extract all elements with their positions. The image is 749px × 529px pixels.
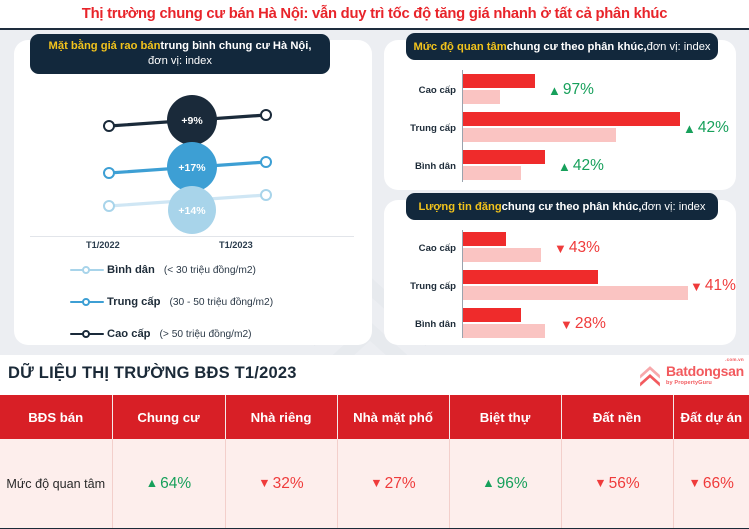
listing-bar-chart: Cao cấp ▼43% Trung cấp ▼41% Bình dân xyxy=(384,228,736,342)
listing-header-rest: chung cư theo phân khúc, xyxy=(502,201,642,213)
line-chart-axis-labels: T1/2022 T1/2023 xyxy=(14,240,372,256)
arrow-up-icon: ▲ xyxy=(683,122,696,135)
demand-bar-previous-premium xyxy=(463,90,500,104)
axis-label-start: T1/2022 xyxy=(86,240,120,250)
demand-annotation-mid: ▲42% xyxy=(683,119,729,137)
cell-value-apartment: ▲64% xyxy=(146,475,191,493)
demand-bar-current-premium xyxy=(463,74,535,88)
arrow-down-icon: ▼ xyxy=(554,242,567,255)
listing-category-budget: Bình dân xyxy=(384,319,456,330)
cell-text-land: 56% xyxy=(609,475,640,493)
demand-annotation-budget-value: 42% xyxy=(573,157,604,175)
line-budget-start-point xyxy=(104,201,114,211)
legend-item-budget: Bình dân (< 30 triệu đồng/m2) xyxy=(70,262,256,278)
line-mid-start-point xyxy=(104,168,114,178)
listing-group-mid: Trung cấp ▼41% xyxy=(384,270,736,302)
price-index-line-chart: +9% +17% +14% xyxy=(14,80,372,240)
cell-text-private-house: 32% xyxy=(273,475,304,493)
line-premium-end-point xyxy=(261,110,271,120)
table-header-villa: Biệt thự xyxy=(449,395,561,439)
page-title: Thị trường chung cư bán Hà Nội: vẫn duy … xyxy=(82,6,667,22)
cell-text-street-house: 27% xyxy=(385,475,416,493)
table-header-project-land: Đất dự án xyxy=(673,395,749,439)
listing-annotation-premium: ▼43% xyxy=(554,239,600,257)
cell-text-villa: 96% xyxy=(497,475,528,493)
table-header-land: Đất nền xyxy=(561,395,673,439)
legend-label-mid: Trung cấp xyxy=(107,296,160,308)
demand-group-mid: Trung cấp ▲42% xyxy=(384,112,736,144)
arrow-down-icon: ▼ xyxy=(690,280,703,293)
listing-group-budget: Bình dân ▼28% xyxy=(384,308,736,340)
listing-annotation-budget: ▼28% xyxy=(560,315,606,333)
demand-header-rest: chung cư theo phân khúc, xyxy=(507,41,647,53)
table-header-category: BĐS bán xyxy=(0,395,112,439)
badge-budget-label: +14% xyxy=(178,205,206,217)
table-row-label: Mức độ quan tâm xyxy=(0,439,112,529)
arrow-down-icon: ▼ xyxy=(689,477,701,490)
arrow-up-icon: ▲ xyxy=(558,160,571,173)
house-logo-icon xyxy=(637,362,663,388)
line-premium-start-point xyxy=(104,121,114,131)
data-banner: DỮ LIỆU THỊ TRƯỜNG BĐS T1/2023 Batdongsa… xyxy=(0,355,749,395)
price-index-card-header: Mặt bằng giá rao bántrung bình chung cư … xyxy=(30,34,330,74)
table-row: Mức độ quan tâm ▲64% ▼32% ▼27% xyxy=(0,439,749,529)
listing-card-header: Lượng tin đăngchung cư theo phân khúc,đơ… xyxy=(406,193,718,220)
cell-text-apartment: 64% xyxy=(160,475,191,493)
demand-header-highlight: Mức độ quan tâm xyxy=(413,41,506,53)
table-header-street-house: Nhà mặt phố xyxy=(337,395,449,439)
infographic-page: Thị trường chung cư bán Hà Nội: vẫn duy … xyxy=(0,0,749,529)
listing-group-premium: Cao cấp ▼43% xyxy=(384,232,736,264)
brand-logo: Batdongsan .com.vn by PropertyGuru xyxy=(637,360,743,390)
logo-name: Batdongsan xyxy=(666,363,744,379)
market-data-table: BĐS bán Chung cư Nhà riêng Nhà mặt phố B… xyxy=(0,395,749,529)
arrow-down-icon: ▼ xyxy=(258,477,270,490)
price-header-highlight: Mặt bằng giá rao bán xyxy=(49,40,161,52)
table-header-private-house: Nhà riêng xyxy=(225,395,337,439)
line-budget-end-point xyxy=(261,190,271,200)
charts-canvas: Mặt bằng giá rao bántrung bình chung cư … xyxy=(0,30,749,355)
listing-annotation-mid: ▼41% xyxy=(690,277,736,295)
listing-category-premium: Cao cấp xyxy=(384,243,456,254)
arrow-up-icon: ▲ xyxy=(146,477,158,490)
table-cell-land: ▼56% xyxy=(561,439,673,529)
listing-bar-previous-premium xyxy=(463,248,541,262)
cell-value-land: ▼56% xyxy=(594,475,639,493)
demand-header-unit: đơn vị: index xyxy=(647,41,711,53)
axis-label-end: T1/2023 xyxy=(219,240,253,250)
listing-annotation-premium-value: 43% xyxy=(569,239,600,257)
demand-category-premium: Cao cấp xyxy=(384,85,456,96)
table-cell-street-house: ▼27% xyxy=(337,439,449,529)
legend-label-budget: Bình dân xyxy=(107,264,155,276)
demand-bar-previous-mid xyxy=(463,128,616,142)
table-body: Mức độ quan tâm ▲64% ▼32% ▼27% xyxy=(0,439,749,529)
listing-bar-previous-budget xyxy=(463,324,545,338)
row-label-demand: Mức độ quan tâm xyxy=(6,477,105,491)
legend-item-mid: Trung cấp (30 - 50 triệu đồng/m2) xyxy=(70,294,273,310)
table-cell-apartment: ▲64% xyxy=(112,439,225,529)
listing-bar-previous-mid xyxy=(463,286,688,300)
demand-bar-current-budget xyxy=(463,150,545,164)
logo-wordmark: Batdongsan .com.vn by PropertyGuru xyxy=(666,364,744,387)
listing-annotation-budget-value: 28% xyxy=(575,315,606,333)
table-header-row: BĐS bán Chung cư Nhà riêng Nhà mặt phố B… xyxy=(0,395,749,439)
demand-bar-previous-budget xyxy=(463,166,521,180)
listing-annotation-mid-value: 41% xyxy=(705,277,736,295)
legend-note-mid: (30 - 50 triệu đồng/m2) xyxy=(169,297,273,308)
logo-tld: .com.vn xyxy=(725,358,744,363)
demand-group-budget: Bình dân ▲42% xyxy=(384,150,736,182)
demand-annotation-premium-value: 97% xyxy=(563,81,594,99)
legend-marker-mid-icon xyxy=(70,296,104,308)
table-header: BĐS bán Chung cư Nhà riêng Nhà mặt phố B… xyxy=(0,395,749,439)
listing-bar-current-budget xyxy=(463,308,521,322)
demand-bar-current-mid xyxy=(463,112,680,126)
listing-bar-current-mid xyxy=(463,270,598,284)
cell-value-street-house: ▼27% xyxy=(370,475,415,493)
listing-category-mid: Trung cấp xyxy=(384,281,456,292)
banner-title: DỮ LIỆU THỊ TRƯỜNG BĐS T1/2023 xyxy=(8,364,297,383)
listing-header-highlight: Lượng tin đăng xyxy=(419,201,502,213)
legend-label-premium: Cao cấp xyxy=(107,328,151,340)
page-title-bar: Thị trường chung cư bán Hà Nội: vẫn duy … xyxy=(0,0,749,30)
legend-note-budget: (< 30 triệu đồng/m2) xyxy=(164,265,256,276)
table-header-apartment: Chung cư xyxy=(112,395,225,439)
badge-mid-label: +17% xyxy=(178,162,206,174)
demand-annotation-mid-value: 42% xyxy=(698,119,729,137)
line-chart-legend: Bình dân (< 30 triệu đồng/m2) Trung cấp … xyxy=(14,262,372,342)
legend-marker-budget-icon xyxy=(70,264,104,276)
logo-subtitle: by PropertyGuru xyxy=(666,381,744,387)
arrow-up-icon: ▲ xyxy=(482,477,494,490)
demand-annotation-budget: ▲42% xyxy=(558,157,604,175)
badge-premium-label: +9% xyxy=(181,115,203,127)
demand-category-budget: Bình dân xyxy=(384,161,456,172)
arrow-up-icon: ▲ xyxy=(548,84,561,97)
listing-header-unit: đơn vị: index xyxy=(642,201,706,213)
demand-group-premium: Cao cấp ▲97% xyxy=(384,74,736,106)
legend-note-premium: (> 50 triệu đồng/m2) xyxy=(160,329,252,340)
line-mid-end-point xyxy=(261,157,271,167)
listing-bar-current-premium xyxy=(463,232,506,246)
demand-card-header: Mức độ quan tâmchung cư theo phân khúc,đ… xyxy=(406,33,718,60)
demand-annotation-premium: ▲97% xyxy=(548,81,594,99)
arrow-down-icon: ▼ xyxy=(370,477,382,490)
demand-category-mid: Trung cấp xyxy=(384,123,456,134)
table-cell-project-land: ▼66% xyxy=(673,439,749,529)
arrow-down-icon: ▼ xyxy=(560,318,573,331)
demand-bar-chart: Cao cấp ▲97% Trung cấp ▲42% Bình dân xyxy=(384,68,736,186)
price-header-rest: trung bình chung cư Hà Nội, xyxy=(160,40,311,52)
table-cell-private-house: ▼32% xyxy=(225,439,337,529)
price-header-unit: đơn vị: index xyxy=(148,54,212,69)
cell-value-private-house: ▼32% xyxy=(258,475,303,493)
cell-text-project-land: 66% xyxy=(703,475,734,493)
table-cell-villa: ▲96% xyxy=(449,439,561,529)
legend-item-premium: Cao cấp (> 50 triệu đồng/m2) xyxy=(70,326,252,342)
cell-value-villa: ▲96% xyxy=(482,475,527,493)
legend-divider xyxy=(30,236,354,237)
cell-value-project-land: ▼66% xyxy=(689,475,734,493)
legend-marker-premium-icon xyxy=(70,328,104,340)
arrow-down-icon: ▼ xyxy=(594,477,606,490)
